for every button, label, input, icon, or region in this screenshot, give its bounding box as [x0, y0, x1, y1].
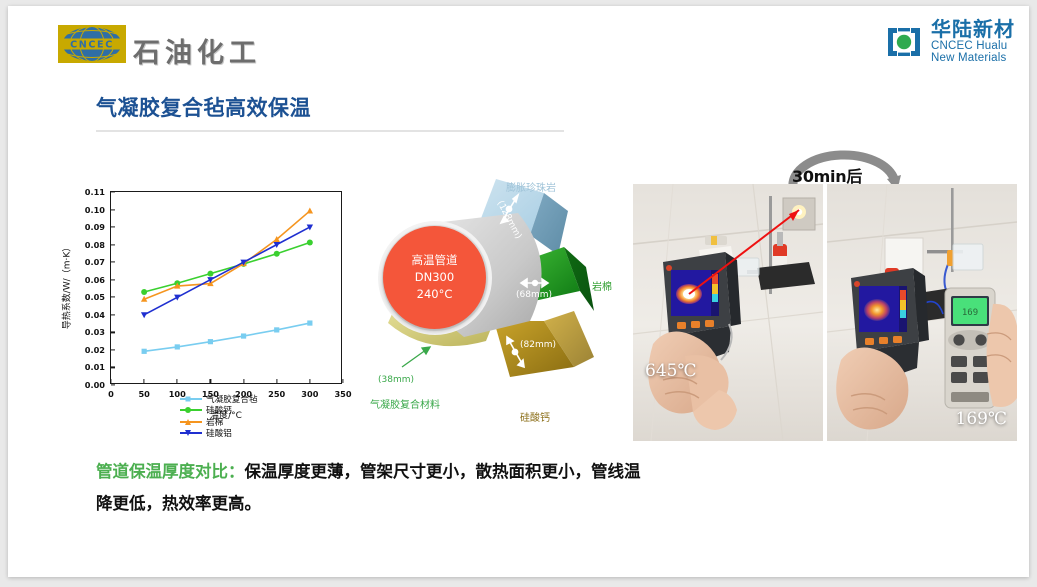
- hualu-en-line1: CNCEC Hualu: [931, 41, 1015, 53]
- chart-data-point: [141, 312, 147, 318]
- legend-marker-icon: [185, 407, 191, 413]
- hualu-cn-name: 华陆新材: [931, 19, 1015, 39]
- chart-y-tick-label: 0.11: [85, 187, 105, 197]
- chart-legend-item-1: 硅酸钙: [180, 405, 258, 417]
- chart-series-1: [141, 240, 313, 295]
- chart-data-point: [175, 344, 180, 349]
- chart-data-point: [307, 240, 313, 246]
- chart-y-tick-label: 0.04: [85, 310, 105, 320]
- chart-x-tick-label: 250: [268, 389, 285, 399]
- svg-text:169: 169: [962, 308, 978, 318]
- legend-marker-icon: [185, 419, 191, 425]
- chart-data-point: [207, 271, 213, 277]
- legend-marker-icon: [186, 396, 191, 401]
- page-title: 气凝胶复合毡高效保温: [96, 92, 311, 122]
- temperature-after: 169℃: [956, 409, 1007, 429]
- layer-dim-calcium-silicate: (82mm): [520, 340, 556, 350]
- chart-legend-item-2: 岩棉: [180, 416, 258, 428]
- legend-line-icon: [180, 432, 202, 434]
- chart-y-tick-label: 0.10: [85, 205, 105, 215]
- thermal-conductivity-chart: 导热系数/W/（m·K） 温度/°C 0.000.010.020.030.040…: [68, 186, 368, 426]
- chart-y-tick-label: 0.00: [85, 380, 105, 390]
- chart-data-point: [274, 251, 280, 257]
- legend-label: 硅酸铝: [206, 427, 232, 439]
- legend-line-icon: [180, 409, 202, 411]
- chart-x-tick-label: 300: [301, 389, 318, 399]
- layer-label-rockwool: 岩棉: [592, 278, 612, 293]
- title-divider: [96, 130, 564, 132]
- thermal-camera-after: 169 169℃: [827, 184, 1017, 441]
- legend-label: 气凝胶复合毡: [206, 393, 258, 405]
- chart-y-tick-label: 0.02: [85, 345, 105, 355]
- chart-data-point: [307, 208, 313, 214]
- chart-legend-item-0: 气凝胶复合毡: [180, 393, 258, 405]
- cncec-logo: CNCEC: [58, 25, 126, 63]
- temperature-before: 645℃: [645, 361, 696, 381]
- layer-label-calcium-silicate: 硅酸钙: [520, 409, 550, 424]
- chart-y-tick-label: 0.05: [85, 292, 105, 302]
- hualu-logo: 华陆新材 CNCEC Hualu New Materials: [884, 18, 1015, 65]
- slide-canvas: CNCEC 石油化工 华陆新材 CNCEC Hualu New Material…: [8, 6, 1029, 577]
- layer-dim-aerogel: (38mm): [378, 375, 414, 385]
- chart-y-tick-label: 0.06: [85, 275, 105, 285]
- caption-highlight: 管道保温厚度对比：: [96, 462, 245, 481]
- layer-dim-rockwool: (68mm): [516, 290, 552, 300]
- slide-header: CNCEC 石油化工 华陆新材 CNCEC Hualu New Material…: [8, 6, 1029, 76]
- chart-data-point: [208, 339, 213, 344]
- chart-data-point: [141, 289, 147, 295]
- hualu-en-line2: New Materials: [931, 53, 1015, 65]
- chart-x-tick-label: 0: [108, 389, 114, 399]
- chart-data-point: [274, 327, 279, 332]
- insulation-layer-diagram: 高温管道 DN300 240°C 膨胀珍珠岩 (128mm) 岩棉 (68mm)…: [368, 171, 630, 429]
- legend-line-icon: [180, 421, 202, 423]
- chart-data-point: [307, 320, 312, 325]
- chart-series-0: [142, 320, 313, 353]
- chart-series-svg: [111, 192, 343, 385]
- layer-label-perlite: 膨胀珍珠岩: [506, 179, 556, 194]
- pipe-core-line3: 240°C: [417, 286, 453, 303]
- legend-line-icon: [180, 398, 202, 400]
- chart-data-point: [142, 349, 147, 354]
- hualu-text-block: 华陆新材 CNCEC Hualu New Materials: [931, 19, 1015, 64]
- pipe-core-label: 高温管道 DN300 240°C: [383, 226, 486, 329]
- chart-data-point: [241, 333, 246, 338]
- chart-legend-item-3: 硅酸铝: [180, 428, 258, 440]
- legend-label: 硅酸钙: [206, 404, 232, 416]
- chart-legend: 气凝胶复合毡硅酸钙岩棉硅酸铝: [180, 393, 258, 439]
- chart-y-tick-label: 0.01: [85, 362, 105, 372]
- chart-y-tick-label: 0.07: [85, 257, 105, 267]
- hualu-mark-icon: [884, 22, 924, 62]
- chart-series-3: [141, 224, 313, 318]
- pipe-core-line2: DN300: [415, 269, 454, 286]
- chart-plot-area: 0.000.010.020.030.040.050.060.070.080.09…: [110, 191, 342, 384]
- chart-x-tick-label: 50: [138, 389, 149, 399]
- chart-y-tick-label: 0.03: [85, 327, 105, 337]
- slide-caption: 管道保温厚度对比：保温厚度更薄，管架尺寸更小，散热面积更小，管线温降更低，热效率…: [96, 456, 656, 520]
- cncec-wordmark: 石油化工: [133, 31, 261, 70]
- chart-y-tick-label: 0.09: [85, 222, 105, 232]
- layer-label-aerogel: 气凝胶复合材料: [370, 396, 440, 411]
- legend-marker-icon: [185, 430, 191, 436]
- chart-x-tick-label: 350: [334, 389, 351, 399]
- svg-text:CNCEC: CNCEC: [70, 39, 114, 50]
- chart-y-axis-label: 导热系数/W/（m·K）: [60, 243, 73, 330]
- pipe-core-line1: 高温管道: [412, 252, 458, 269]
- chart-y-tick-label: 0.08: [85, 240, 105, 250]
- thermal-camera-before: 645℃: [633, 184, 823, 441]
- chart-series-2: [141, 208, 313, 302]
- legend-label: 岩棉: [206, 416, 223, 428]
- thermal-test-photos: 645℃: [633, 184, 1017, 441]
